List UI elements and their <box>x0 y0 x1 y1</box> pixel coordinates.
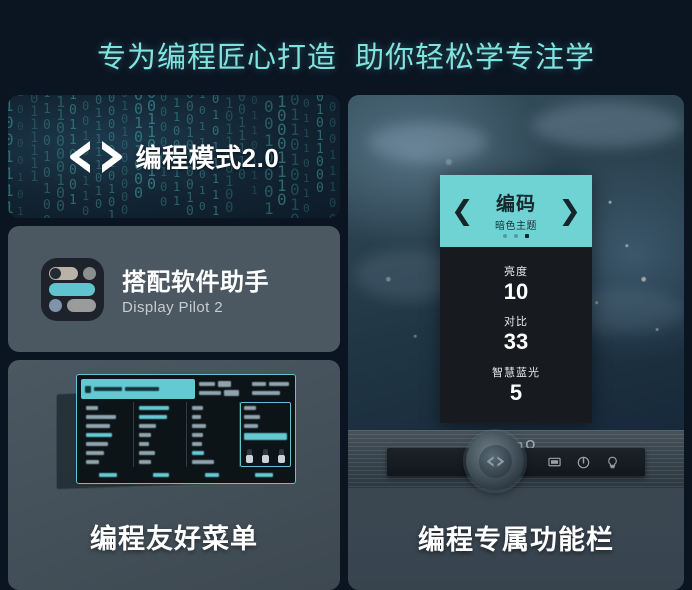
blur-glyph-active <box>139 415 167 419</box>
setting-value: 5 <box>492 380 540 405</box>
blur-glyph <box>192 415 201 419</box>
blur-glyph <box>125 387 159 391</box>
code-bracket-icon <box>69 137 123 177</box>
display-pilot-title: 搭配软件助手 <box>122 262 269 297</box>
osd-column-4 <box>240 402 291 467</box>
blur-glyph <box>244 424 258 428</box>
control-dial[interactable] <box>466 432 524 490</box>
display-input-icon[interactable] <box>548 456 561 469</box>
blur-glyph <box>139 442 149 446</box>
display-pilot-subtitle: Display Pilot 2 <box>122 299 269 316</box>
osd-column-1 <box>81 402 134 467</box>
osd-column-2 <box>134 402 187 467</box>
osd-shot-footer <box>81 470 291 479</box>
blur-glyph <box>86 451 104 455</box>
blur-glyph <box>86 424 110 428</box>
blur-glyph <box>192 406 203 410</box>
osd-setting-low-blue-light[interactable]: 智慧蓝光 5 <box>492 364 540 405</box>
blur-glyph <box>244 406 256 410</box>
feature-grid: 0 1 0 0 1 1 1 1 1 0 0 0 0 1 0 1 1 0 0 1 … <box>8 95 684 580</box>
tile-display-pilot[interactable]: 搭配软件助手 Display Pilot 2 <box>8 226 340 352</box>
osd-page-dots <box>440 234 592 238</box>
osd-panel[interactable]: ❮ 编码 暗色主题 ❯ 亮度 10 对比 3 <box>440 175 592 423</box>
cloud-shape <box>368 122 488 162</box>
osd-shot-columns <box>81 402 291 467</box>
icon-row-mid <box>49 283 96 296</box>
blur-glyph <box>86 406 98 410</box>
osd-shot-topbar <box>81 379 291 399</box>
display-pilot-app-icon <box>41 258 104 321</box>
power-icon[interactable] <box>577 456 590 469</box>
blur-glyph <box>252 382 266 386</box>
cloud-shape <box>533 102 683 148</box>
dot-shape <box>83 267 96 280</box>
blur-glyph <box>139 424 156 428</box>
osd-shot-meta <box>199 379 291 399</box>
blur-glyph <box>192 460 214 464</box>
blur-glyph <box>244 415 260 419</box>
slider-r <box>247 449 252 463</box>
blur-glyph <box>224 390 239 396</box>
chevron-right-icon[interactable]: ❯ <box>558 198 581 225</box>
osd-menu-screenshot <box>56 374 296 494</box>
code-dial-icon <box>486 455 505 468</box>
page-dot-active[interactable] <box>525 234 529 238</box>
page-dot[interactable] <box>503 234 507 238</box>
blur-glyph <box>199 382 215 386</box>
blur-glyph <box>139 460 151 464</box>
tile-monitor-function-bar[interactable]: ❮ 编码 暗色主题 ❯ 亮度 10 对比 3 <box>348 95 684 590</box>
icon-row-bottom <box>49 299 96 312</box>
blur-glyph <box>192 442 202 446</box>
meta-row <box>199 390 291 396</box>
gray-bar-shape <box>67 299 96 312</box>
blur-glyph <box>139 451 155 455</box>
tile-coding-mode[interactable]: 0 1 0 0 1 1 1 1 1 0 0 0 0 1 0 1 1 0 0 1 … <box>8 95 340 218</box>
blur-glyph-selected <box>244 433 287 440</box>
light-icon[interactable] <box>606 456 619 469</box>
setting-value: 33 <box>504 329 528 354</box>
setting-label: 智慧蓝光 <box>492 364 540 380</box>
blur-glyph <box>205 473 219 477</box>
osd-theme-name: 暗色主题 <box>495 217 537 232</box>
blur-glyph <box>199 391 221 395</box>
blur-glyph <box>255 473 273 477</box>
blur-glyph <box>86 442 108 446</box>
blue-dot-shape <box>49 299 62 312</box>
chevron-left-icon[interactable]: ❮ <box>451 198 474 225</box>
blur-glyph <box>94 387 122 391</box>
blur-glyph <box>192 424 206 428</box>
coding-mode-title: 编程模式2.0 <box>136 138 280 175</box>
blur-glyph-active <box>86 433 112 437</box>
control-dial-inner <box>479 445 512 478</box>
blur-glyph <box>86 460 99 464</box>
page-headline: 专为编程匠心打造 助你轻松学专注学 <box>0 34 692 76</box>
setting-label: 对比 <box>504 313 528 329</box>
slider-b <box>279 449 284 463</box>
blur-glyph <box>252 391 280 395</box>
blur-glyph-active <box>139 406 169 410</box>
osd-setting-contrast[interactable]: 对比 33 <box>504 313 528 354</box>
blur-glyph-active <box>192 451 204 455</box>
slider-g <box>263 449 268 463</box>
blur-glyph <box>218 381 231 387</box>
osd-column-3 <box>187 402 240 467</box>
display-pilot-text: 搭配软件助手 Display Pilot 2 <box>122 262 269 316</box>
blur-glyph <box>192 433 203 437</box>
osd-settings-list: 亮度 10 对比 33 智慧蓝光 5 <box>440 247 592 423</box>
osd-header: ❮ 编码 暗色主题 ❯ <box>440 175 592 247</box>
coding-mode-content: 编程模式2.0 <box>8 95 340 218</box>
osd-mode-labels: 编码 暗色主题 <box>495 189 537 232</box>
tile-friendly-menu[interactable]: 编程友好菜单 <box>8 360 340 590</box>
monitor-caption: 编程专属功能栏 <box>348 518 684 557</box>
meta-row <box>199 381 291 387</box>
osd-screenshot-front <box>76 374 296 484</box>
setting-label: 亮度 <box>504 263 528 279</box>
blur-glyph <box>153 473 169 477</box>
page-dot[interactable] <box>514 234 518 238</box>
blur-glyph <box>86 415 116 419</box>
blur-glyph <box>269 382 289 386</box>
menu-caption: 编程友好菜单 <box>8 517 340 556</box>
osd-shot-header <box>81 379 195 399</box>
toggle-shape <box>49 267 78 280</box>
icon-row-top <box>49 267 96 280</box>
osd-sliders <box>244 445 287 463</box>
osd-setting-brightness[interactable]: 亮度 10 <box>504 263 528 304</box>
blur-glyph <box>139 433 151 437</box>
setting-value: 10 <box>504 279 528 304</box>
blur-glyph <box>85 386 91 393</box>
cyan-bar-shape <box>49 283 95 296</box>
blur-glyph <box>99 473 117 477</box>
osd-mode-name: 编码 <box>495 189 537 216</box>
